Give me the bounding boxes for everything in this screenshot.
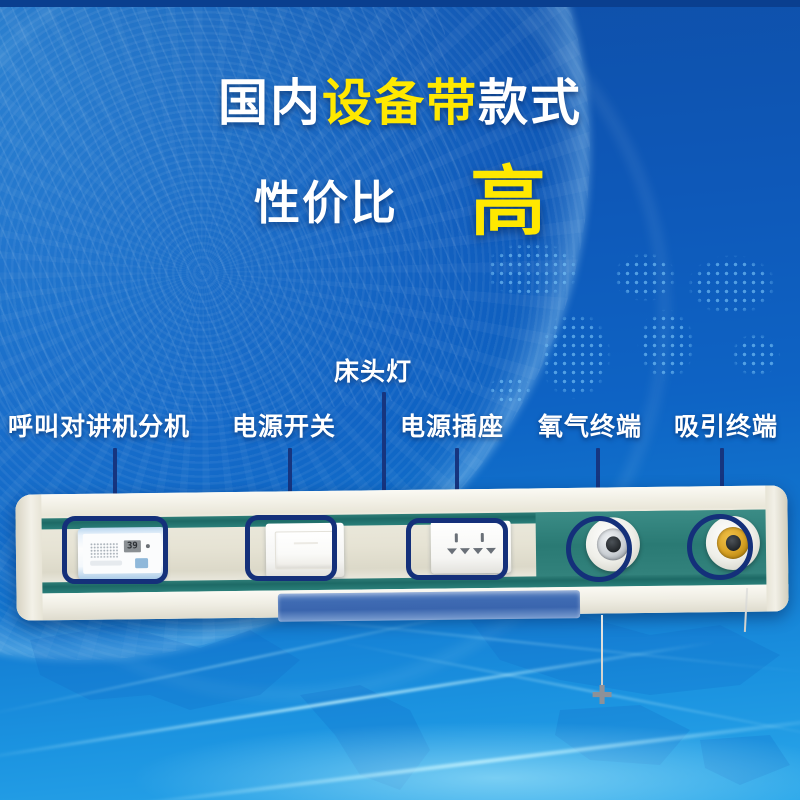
intercom-call-button[interactable] bbox=[135, 558, 148, 568]
panel-right-endcap bbox=[765, 485, 789, 611]
socket-pin-slot bbox=[481, 533, 484, 542]
socket-angled-slot bbox=[447, 548, 457, 554]
headline-emphasis-gao: 高 bbox=[470, 165, 546, 241]
intercom-slot bbox=[90, 560, 122, 565]
speaker-grille-icon bbox=[90, 542, 118, 557]
callout-label-power-socket: 电源插座 bbox=[400, 415, 504, 440]
intercom-display: 39 bbox=[124, 540, 141, 552]
status-led-icon bbox=[146, 544, 150, 548]
nurse-call-intercom[interactable]: 39 bbox=[78, 527, 167, 580]
switch-rocker[interactable] bbox=[275, 531, 337, 570]
socket-pin-slot bbox=[455, 533, 458, 542]
intercom-faceplate: 39 bbox=[83, 533, 161, 574]
bed-head-unit[interactable]: 39 bbox=[16, 490, 788, 640]
callout-label-bed-lamp: 床头灯 bbox=[334, 360, 412, 385]
suction-terminal-port bbox=[726, 535, 741, 551]
headline-part-3: 款式 bbox=[478, 75, 582, 131]
callout-label-suction: 吸引终端 bbox=[674, 415, 778, 440]
switch-indicator-line bbox=[294, 542, 318, 544]
oxygen-terminal-port bbox=[606, 536, 621, 552]
suction-terminal-core bbox=[717, 527, 749, 559]
callout-label-intercom: 呼叫对讲机分机 bbox=[8, 415, 190, 440]
top-navy-band bbox=[0, 0, 800, 7]
panel-left-endcap bbox=[15, 494, 43, 620]
socket-angled-slot bbox=[460, 548, 470, 554]
pull-cord-handle-icon[interactable]: ✚ bbox=[589, 682, 615, 708]
power-switch[interactable] bbox=[266, 523, 345, 578]
headline-part-1: 国内 bbox=[218, 75, 322, 131]
bed-lamp-pull-cord[interactable] bbox=[601, 615, 603, 687]
callout-label-oxygen: 氧气终端 bbox=[538, 415, 642, 440]
headline-line-2: 性价比 bbox=[254, 180, 398, 226]
product-banner: 国内设备带款式 性价比 高 呼叫对讲机分机 电源开关 床头灯 电源插座 氧气终端… bbox=[0, 0, 800, 800]
callout-label-power-switch: 电源开关 bbox=[232, 415, 336, 440]
oxygen-terminal-core bbox=[597, 528, 629, 560]
socket-angled-slot bbox=[486, 548, 496, 554]
headline-part-2: 设备带 bbox=[322, 75, 478, 131]
headline-line-1: 国内设备带款式 bbox=[0, 78, 800, 128]
bed-lamp-diffuser bbox=[278, 590, 580, 622]
headline-block: 国内设备带款式 bbox=[0, 78, 800, 128]
socket-angled-slot bbox=[473, 548, 483, 554]
power-socket[interactable] bbox=[431, 521, 512, 574]
headline-line-2-row: 性价比 高 bbox=[0, 165, 800, 241]
